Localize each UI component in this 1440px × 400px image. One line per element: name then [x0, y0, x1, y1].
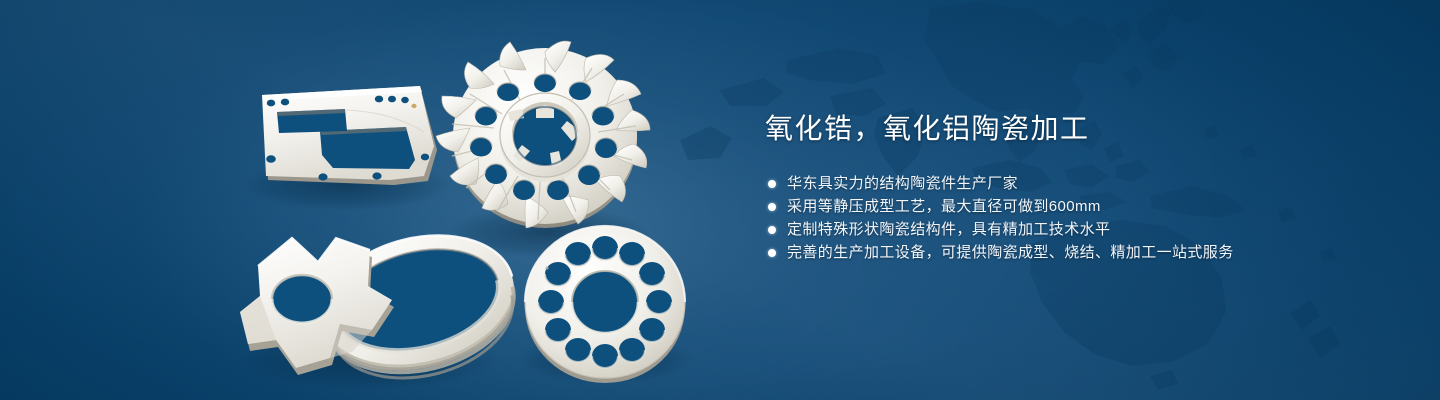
bullet-dot-icon: [768, 249, 776, 257]
feature-text: 采用等静压成型工艺，最大直径可做到600mm: [787, 197, 1101, 216]
bullet-dot-icon: [768, 226, 776, 234]
ceramic-perforated-disc-part: [525, 226, 685, 383]
feature-text: 定制特殊形状陶瓷结构件，具有精加工技术水平: [787, 220, 1110, 239]
bullet-dot-icon: [768, 203, 776, 211]
ceramic-parts-image: [0, 0, 760, 400]
page-title: 氧化锆，氧化铝陶瓷加工: [765, 112, 1090, 146]
banner-text-column: 氧化锆，氧化铝陶瓷加工 华东具实力的结构陶瓷件生产厂家 采用等静压成型工艺，最大…: [765, 0, 1385, 400]
feature-text: 完善的生产加工设备，可提供陶瓷成型、烧结、精加工一站式服务: [787, 243, 1234, 262]
list-item: 采用等静压成型工艺，最大直径可做到600mm: [768, 195, 1234, 218]
list-item: 完善的生产加工设备，可提供陶瓷成型、烧结、精加工一站式服务: [768, 241, 1234, 264]
banner: 氧化锆，氧化铝陶瓷加工 华东具实力的结构陶瓷件生产厂家 采用等静压成型工艺，最大…: [0, 0, 1440, 400]
list-item: 定制特殊形状陶瓷结构件，具有精加工技术水平: [768, 218, 1234, 241]
feature-list: 华东具实力的结构陶瓷件生产厂家 采用等静压成型工艺，最大直径可做到600mm 定…: [768, 172, 1234, 264]
ceramic-plate-part: [262, 86, 437, 185]
list-item: 华东具实力的结构陶瓷件生产厂家: [768, 172, 1234, 195]
feature-text: 华东具实力的结构陶瓷件生产厂家: [787, 174, 1018, 193]
bullet-dot-icon: [768, 180, 776, 188]
ceramic-impeller-part: [436, 41, 650, 228]
